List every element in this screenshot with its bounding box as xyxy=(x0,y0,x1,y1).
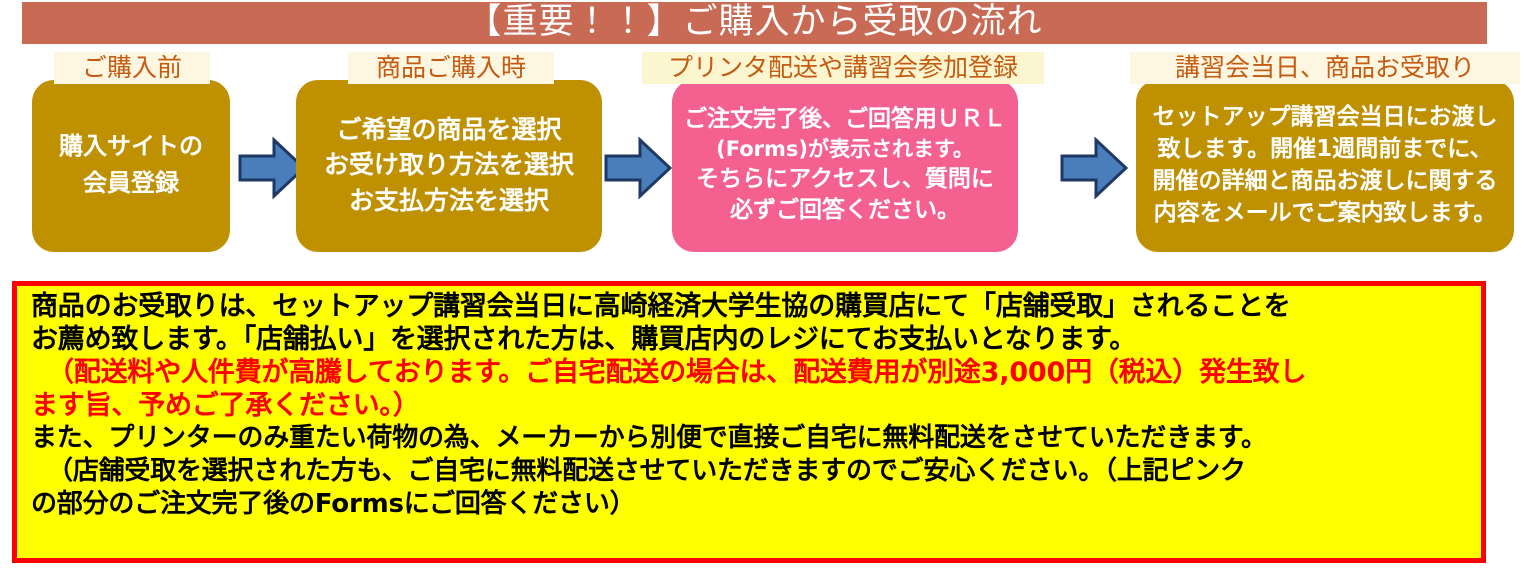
notice-line-3: （配送料や人件費が高騰しております。ご自宅配送の場合は、配送費用が別途3,000… xyxy=(31,356,1471,389)
flow-step-3: ご注文完了後、ご回答用ＵＲＬ (Forms)が表示されます。 そちらにアクセスし… xyxy=(672,80,1018,252)
flow-step-2-body: ご希望の商品を選択 お受け取り方法を選択 お支払方法を選択 xyxy=(296,80,602,252)
flow-step-4-line-1: セットアップ講習会当日にお渡し xyxy=(1153,101,1498,133)
flow-step-4-body: セットアップ講習会当日にお渡し 致します。開催1週間前までに、 開催の詳細と商品… xyxy=(1136,80,1514,252)
notice-text: 商品のお受取りは、セットアップ講習会当日に高崎経済大学生協の購買店にて「店舗受取… xyxy=(17,286,1481,521)
flow-step-3-line-3: そちらにアクセスし、質問に xyxy=(696,164,994,195)
flow-step-1-line-2: 会員登録 xyxy=(83,165,179,202)
notice-line-7: の部分のご注文完了後のFormsにご回答ください） xyxy=(31,488,1471,521)
notice-line-1: 商品のお受取りは、セットアップ講習会当日に高崎経済大学生協の購買店にて「店舗受取… xyxy=(31,290,1471,323)
flow-step-1-body: 購入サイトの 会員登録 xyxy=(32,80,230,252)
flow-step-2-line-1: ご希望の商品を選択 xyxy=(336,112,561,148)
right-arrow-icon xyxy=(604,134,672,202)
notice-box: 商品のお受取りは、セットアップ講習会当日に高崎経済大学生協の購買店にて「店舗受取… xyxy=(12,281,1486,563)
flow-step-2: ご希望の商品を選択 お受け取り方法を選択 お支払方法を選択 xyxy=(296,80,602,252)
flow-infographic-page: 【重要！！】ご購入から受取の流れ 購入サイトの 会員登録 ご購入前 ご希望の商品… xyxy=(0,0,1538,575)
notice-line-6: （店舗受取を選択された方も、ご自宅に無料配送させていただきますのでご安心ください… xyxy=(31,455,1471,488)
flow-step-4: セットアップ講習会当日にお渡し 致します。開催1週間前までに、 開催の詳細と商品… xyxy=(1136,80,1514,252)
page-title: 【重要！！】ご購入から受取の流れ xyxy=(22,0,1487,46)
flow-step-3-line-4: 必ずご回答ください。 xyxy=(730,195,960,226)
flow-step-4-label: 講習会当日、商品お受取り xyxy=(1130,52,1520,84)
flow-step-2-line-2: お受け取り方法を選択 xyxy=(324,147,574,183)
flow-step-3-line-2: (Forms)が表示されます。 xyxy=(716,135,974,163)
flow-step-1: 購入サイトの 会員登録 xyxy=(32,80,230,252)
flow-step-1-line-1: 購入サイトの xyxy=(59,128,203,165)
flow-step-3-body: ご注文完了後、ご回答用ＵＲＬ (Forms)が表示されます。 そちらにアクセスし… xyxy=(672,80,1018,252)
notice-line-4: ます旨、予めご了承ください。） xyxy=(31,389,1471,422)
flow-step-3-line-1: ご注文完了後、ご回答用ＵＲＬ xyxy=(684,104,1006,135)
process-flow: 購入サイトの 会員登録 ご購入前 ご希望の商品を選択 お受け取り方法を選択 お支… xyxy=(0,52,1538,267)
flow-step-2-line-3: お支払方法を選択 xyxy=(349,183,549,219)
flow-step-3-label: プリンタ配送や講習会参加登録 xyxy=(642,52,1044,84)
notice-line-2: お薦め致します。「店舗払い」を選択された方は、購買店内のレジにてお支払いとなりま… xyxy=(31,323,1471,356)
flow-step-4-line-2: 致します。開催1週間前までに、 xyxy=(1157,133,1492,165)
flow-step-4-line-4: 内容をメールでご案内致します。 xyxy=(1154,197,1497,229)
right-arrow-icon xyxy=(1060,134,1128,202)
flow-step-4-line-3: 開催の詳細と商品お渡しに関する xyxy=(1153,165,1498,197)
notice-line-5: また、プリンターのみ重たい荷物の為、メーカーから別便で直接ご自宅に無料配送をさせ… xyxy=(31,422,1471,455)
flow-step-1-label: ご購入前 xyxy=(54,52,210,84)
flow-step-2-label: 商品ご購入時 xyxy=(348,52,554,84)
